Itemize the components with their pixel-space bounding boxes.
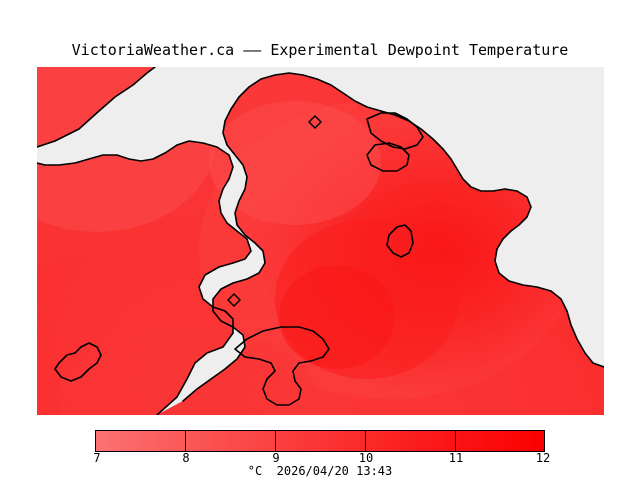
page-title: VictoriaWeather.ca —— Experimental Dewpo… [0,42,640,59]
map-panel[interactable] [37,67,604,415]
colorbar-tick-11 [455,430,456,452]
dewpoint-map[interactable] [37,67,604,415]
colorbar-tick-10 [365,430,366,452]
colorbar-gradient [95,430,545,452]
colorbar-tick-8 [185,430,186,452]
colorbar[interactable] [95,430,545,452]
weather-map-page: VictoriaWeather.ca —— Experimental Dewpo… [0,0,640,480]
colorbar-tick-9 [275,430,276,452]
colorbar-caption: °C 2026/04/20 13:43 [0,464,640,478]
